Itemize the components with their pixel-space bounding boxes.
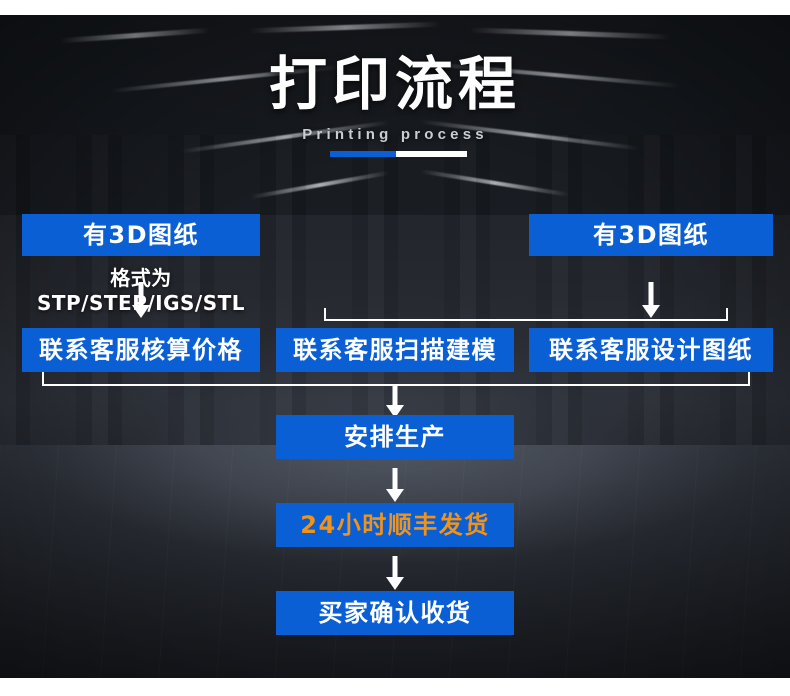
- arrow-down-to-confirm: [385, 556, 405, 590]
- node-buyer-confirm[interactable]: 买家确认收货: [276, 591, 514, 635]
- node-arrange-production[interactable]: 安排生产: [276, 415, 514, 459]
- bottom-white-margin: [0, 678, 790, 696]
- node-contact-scan-model[interactable]: 联系客服扫描建模: [276, 328, 514, 372]
- arrow-down-left-1: [131, 282, 151, 318]
- title-underline-bar: [330, 151, 467, 157]
- node-have-drawing-right[interactable]: 有3D图纸: [529, 214, 773, 256]
- node-label: 联系客服扫描建模: [293, 338, 497, 362]
- page-subtitle: Printing process: [0, 126, 790, 144]
- underline-segment-blue: [330, 151, 396, 157]
- arrow-down-right-1: [641, 282, 661, 318]
- node-label: 买家确认收货: [319, 601, 472, 625]
- node-contact-quote[interactable]: 联系客服核算价格: [22, 328, 260, 372]
- page-header: 打印流程 Printing process: [0, 52, 790, 144]
- flow-diagram-page: 打印流程 Printing process 有3D图纸 格式为STP/STEP/…: [0, 0, 790, 696]
- page-title: 打印流程: [0, 52, 790, 116]
- arrow-down-to-shipping: [385, 468, 405, 502]
- underline-segment-white: [396, 151, 467, 157]
- node-label: 有3D图纸: [83, 223, 199, 247]
- bracket-top-right-stub: [726, 308, 728, 320]
- node-ship-24h[interactable]: 24小时顺丰发货: [276, 503, 514, 547]
- node-label: 安排生产: [344, 425, 446, 449]
- node-label: 24小时顺丰发货: [300, 513, 489, 537]
- top-white-margin: [0, 0, 790, 15]
- node-label: 联系客服核算价格: [39, 338, 243, 362]
- bracket-top-left-stub: [324, 308, 326, 320]
- node-label: 有3D图纸: [593, 223, 709, 247]
- node-have-drawing-left[interactable]: 有3D图纸: [22, 214, 260, 256]
- bracket-top-horizontal: [324, 319, 728, 321]
- arrow-down-to-production: [385, 384, 405, 418]
- node-label: 联系客服设计图纸: [549, 338, 753, 362]
- node-contact-design-drawing[interactable]: 联系客服设计图纸: [529, 328, 773, 372]
